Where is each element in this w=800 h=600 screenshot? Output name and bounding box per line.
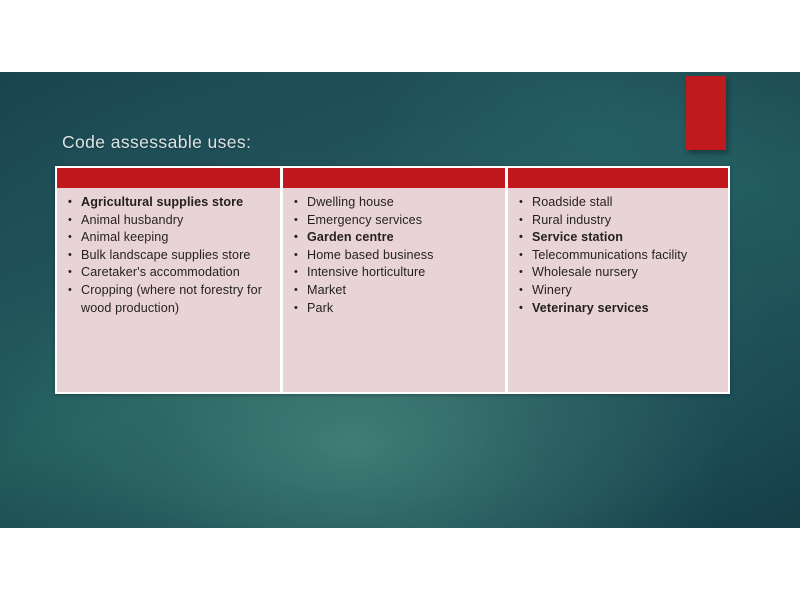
list-item: Park [291,300,501,318]
list-item: Garden centre [291,229,501,247]
list-item: Veterinary services [516,300,724,318]
table-cell-column-3: Roadside stallRural industryService stat… [508,188,728,392]
table-body-row: Agricultural supplies storeAnimal husban… [55,188,730,394]
list-item: Wholesale nursery [516,264,724,282]
list-item: Home based business [291,247,501,265]
list-item: Bulk landscape supplies store [65,247,276,265]
table-cell-column-2: Dwelling houseEmergency servicesGarden c… [283,188,505,392]
list-item: Emergency services [291,212,501,230]
list-item: Market [291,282,501,300]
use-list-column-3: Roadside stallRural industryService stat… [516,194,724,317]
page-title: Code assessable uses: [62,132,251,153]
list-item: Dwelling house [291,194,501,212]
use-list-column-2: Dwelling houseEmergency servicesGarden c… [291,194,501,317]
list-item: Intensive horticulture [291,264,501,282]
table-header-cell-1 [57,168,280,188]
list-item: Telecommunications facility [516,247,724,265]
code-assessable-uses-table: Agricultural supplies storeAnimal husban… [55,166,730,394]
list-item: Service station [516,229,724,247]
red-accent-bar [686,76,726,150]
slide-canvas: Code assessable uses: Agricultural suppl… [0,0,800,600]
table-header-row [55,166,730,188]
list-item: Animal keeping [65,229,276,247]
list-item: Caretaker's accommodation [65,264,276,282]
table-header-cell-3 [508,168,728,188]
list-item: Winery [516,282,724,300]
table-header-cell-2 [283,168,505,188]
list-item: Agricultural supplies store [65,194,276,212]
table-cell-column-1: Agricultural supplies storeAnimal husban… [57,188,280,392]
list-item: Roadside stall [516,194,724,212]
use-list-column-1: Agricultural supplies storeAnimal husban… [65,194,276,317]
list-item: Rural industry [516,212,724,230]
list-item: Animal husbandry [65,212,276,230]
presentation-slide: Code assessable uses: Agricultural suppl… [0,72,800,528]
list-item: Cropping (where not forestry for wood pr… [65,282,276,317]
